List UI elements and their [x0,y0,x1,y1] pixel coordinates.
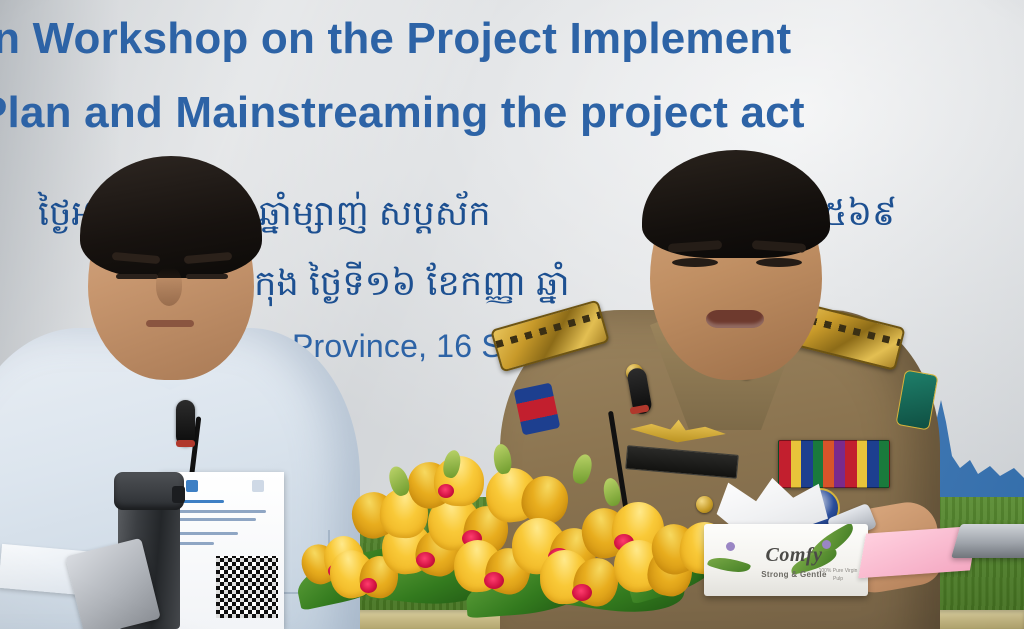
card-text-line-2 [168,510,266,513]
tumbler-latch[interactable] [172,486,185,503]
card-text-line-3 [168,518,256,521]
qr-code-icon[interactable] [216,556,278,618]
laptop-device[interactable] [951,524,1024,558]
mouth-left [146,320,194,327]
mouth-right [706,310,764,328]
epaulette-braid-left [495,312,601,348]
eye-right-a [672,258,718,267]
tissue-fine-print: 100% Pure Virgin Pulp [814,568,862,583]
tissue-box[interactable]: Comfy Strong & Gentle 100% Pure Virgin P… [704,524,868,596]
photo-scene: on Workshop on the Project Implement Pla… [0,0,1024,629]
eye-left-a [116,274,158,279]
tissue-brand-label: Comfy [748,544,840,567]
banner-title-line-1: on Workshop on the Project Implement [0,14,791,64]
banner-title-line-2: Plan and Mainstreaming the project act [0,88,805,138]
card-logo-gray [252,480,264,492]
medal-ribbon-bar [778,440,890,488]
eye-left-b [186,274,228,279]
card-logo-blue [186,480,198,492]
tissue-floret-b [726,542,735,551]
microphone-indicator-left [176,440,195,447]
hair-right [642,150,830,258]
hair-left [80,156,262,278]
flower-arrangement [296,440,716,629]
eye-right-b [756,258,802,267]
nose-left [156,268,182,306]
